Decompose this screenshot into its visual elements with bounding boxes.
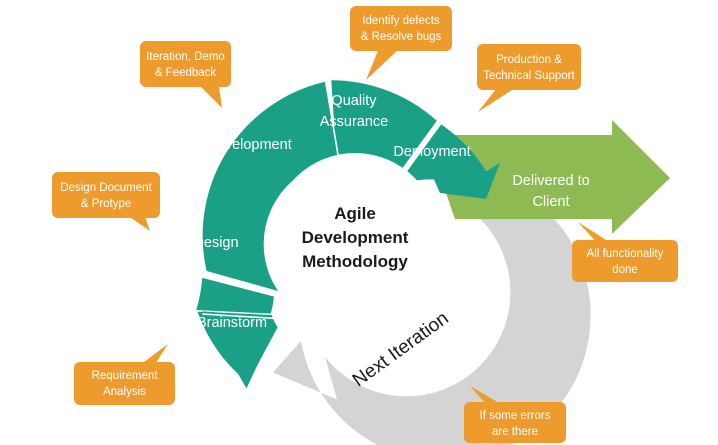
callout-iteration-demo-feedback[interactable]: Iteration, Demo & Feedback <box>140 41 231 108</box>
callout-all-functionality-done-line1: All functionality <box>587 248 664 260</box>
callout-identify-defects-tail <box>366 46 400 80</box>
callout-identify-defects-box[interactable] <box>350 6 452 51</box>
phase-label-design: Design <box>193 235 238 251</box>
callout-all-functionality-done[interactable]: All functionality done <box>572 222 678 282</box>
callout-production-support-line1: Production & <box>496 54 562 66</box>
phase-label-development: Development <box>206 137 291 153</box>
callout-requirement-analysis-box[interactable] <box>74 362 175 405</box>
center-title-line3: Methodology <box>302 252 408 271</box>
callout-all-functionality-done-line2: done <box>612 264 638 276</box>
delivered-label-line2: Client <box>532 194 569 210</box>
callout-production-support-line2: Technical Support <box>483 70 575 82</box>
phase-label-deployment: Deployment <box>393 144 470 160</box>
callout-production-support[interactable]: Production & Technical Support <box>477 44 581 112</box>
callout-identify-defects-line1: Identify defects <box>362 15 440 27</box>
delivered-label-line1: Delivered to <box>512 173 589 189</box>
callout-iteration-demo-feedback-line1: Iteration, Demo <box>146 51 225 63</box>
callout-design-document-line1: Design Document <box>60 182 152 194</box>
phase-label-quality-assurance-line1: Quality <box>331 93 377 109</box>
callout-requirement-analysis-line2: Analysis <box>103 386 146 398</box>
phase-label-quality-assurance-line2: Assurance <box>320 114 389 130</box>
center-hub: Agile Development Methodology <box>271 153 439 321</box>
diagram-canvas: Next Iteration Delivered to Client Brain… <box>0 0 718 445</box>
callout-design-document-box[interactable] <box>52 172 160 218</box>
center-title-line1: Agile <box>334 204 376 223</box>
callout-production-support-box[interactable] <box>477 44 581 90</box>
callout-if-some-errors-line2: are there <box>492 426 538 438</box>
callout-identify-defects[interactable]: Identify defects & Resolve bugs <box>350 6 452 80</box>
callout-requirement-analysis[interactable]: Requirement Analysis <box>74 344 175 405</box>
callout-requirement-analysis-line1: Requirement <box>92 370 159 382</box>
callout-design-document[interactable]: Design Document & Protype <box>52 172 160 231</box>
callout-iteration-demo-feedback-box[interactable] <box>140 41 231 87</box>
phase-label-brainstorm: Brainstorm <box>197 315 267 331</box>
callout-iteration-demo-feedback-line2: & Feedback <box>155 67 217 79</box>
callout-if-some-errors-line1: If some errors <box>480 410 551 422</box>
callout-identify-defects-line2: & Resolve bugs <box>361 31 442 43</box>
center-title-line2: Development <box>302 228 409 247</box>
callout-design-document-line2: & Protype <box>81 198 132 210</box>
